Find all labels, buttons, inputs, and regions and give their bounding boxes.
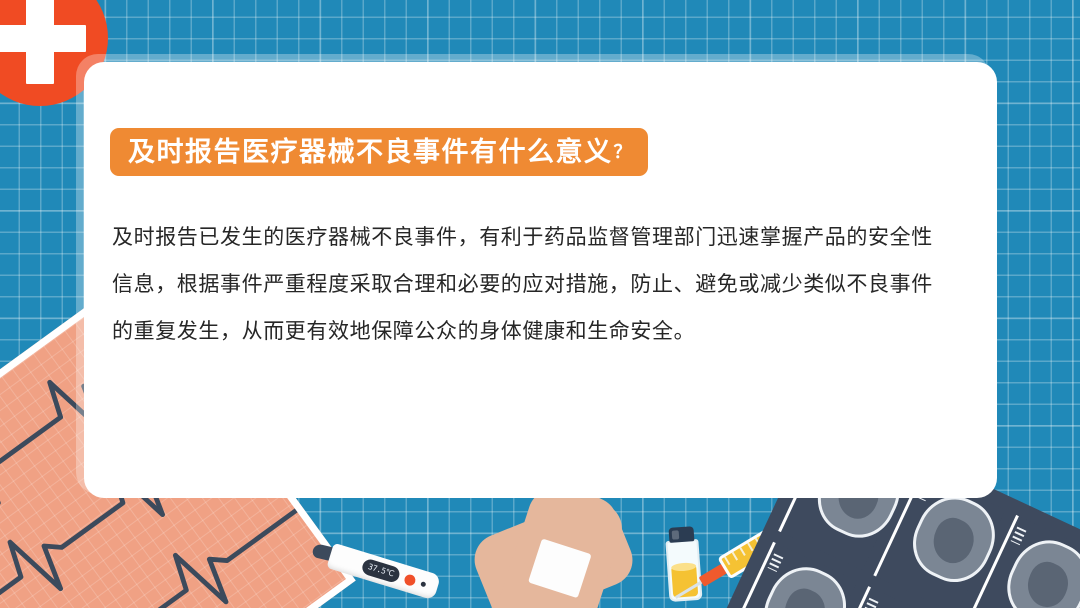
ct-skull-outline [996, 529, 1080, 608]
cross-vertical-bar [26, 0, 54, 84]
infographic-slide: 37.5℃ [0, 0, 1080, 608]
vial-cap [668, 526, 694, 543]
page-title: 及时报告医疗器械不良事件有什么意义 [128, 139, 613, 166]
body-line: 信息，根据事件严重程度采取合理和必要的应对措施，防止、避免或减少类似不良事件 [112, 261, 978, 308]
ct-film-marks [1011, 527, 1027, 546]
bandage-pad [528, 538, 592, 598]
body-line: 的重复发生，从而更有效地保障公众的身体健康和生命安全。 [112, 308, 978, 355]
ct-film-marks [862, 598, 878, 608]
ct-brain-shape [926, 512, 981, 569]
ct-brain-shape [777, 583, 832, 608]
syringe-needle [675, 580, 704, 599]
title-question-mark: ？ [614, 143, 632, 161]
ct-skull-outline [752, 555, 858, 608]
body-line: 及时报告已发生的医疗器械不良事件，有利于药品监督管理部门迅速掌握产品的安全性 [112, 214, 978, 261]
body-paragraph: 及时报告已发生的医疗器械不良事件，有利于药品监督管理部门迅速掌握产品的安全性 信… [112, 214, 978, 355]
ct-brain-shape [1021, 556, 1076, 608]
title-banner: 及时报告医疗器械不良事件有什么意义 ？ [110, 128, 648, 176]
ct-film-marks [768, 553, 784, 572]
content-card: 及时报告医疗器械不良事件有什么意义 ？ 及时报告已发生的医疗器械不良事件，有利于… [84, 62, 997, 498]
